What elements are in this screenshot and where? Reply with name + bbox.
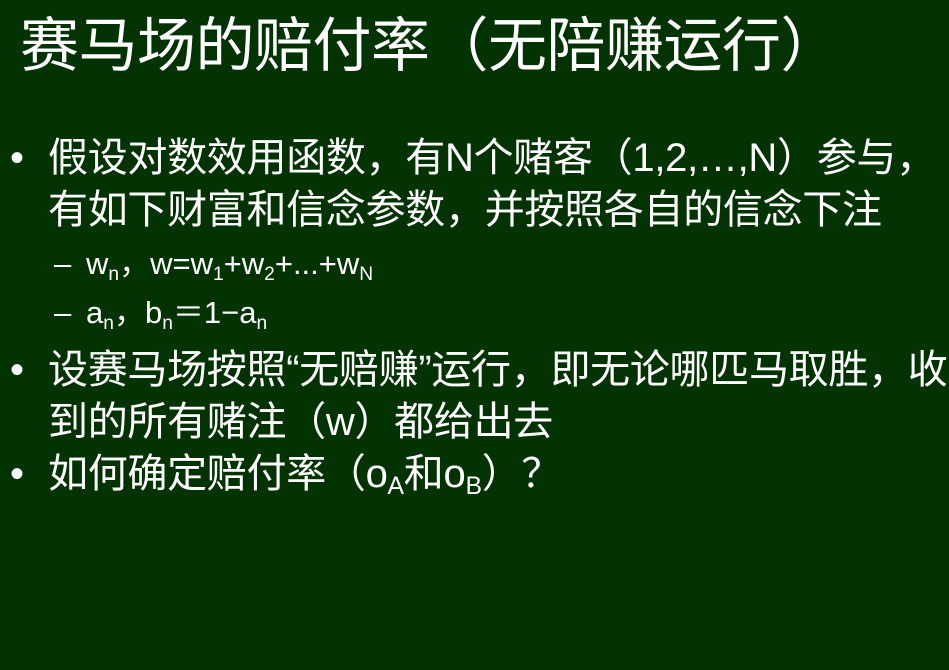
odds-a-subscript: A [388, 473, 404, 500]
comma: ， [114, 295, 145, 330]
odds-b-subscript: B [465, 473, 481, 500]
var-a-subscript: n [103, 313, 114, 334]
var-b: b [145, 295, 162, 330]
bullet-item-3: • 如何确定赔付率（oA和oB）？ [0, 448, 949, 506]
bullet-2-text: 设赛马场按照“无赔赚”运行，即无论哪匹马取胜，收到的所有赌注（w）都给出去 [48, 344, 949, 448]
comma: ， [119, 246, 150, 281]
bullet-marker-icon: • [10, 448, 40, 500]
bullet-marker-icon: • [10, 132, 40, 184]
odds-lead: 如何确定赔付率（o [48, 452, 388, 496]
dash-marker-icon: – [54, 242, 84, 286]
var-w: w [86, 246, 108, 281]
presentation-slide: 赛马场的赔付率（无陪赚运行） • 假设对数效用函数，有N个赌客（1,2,…,N）… [0, 0, 949, 670]
sub-bullet-1-text: wn，w=w1+w2+...+wN [86, 242, 949, 291]
minus-sign: − [221, 295, 239, 330]
slide-body: • 假设对数效用函数，有N个赌客（1,2,…,N）参与，有如下财富和信念参数，并… [0, 132, 949, 506]
bullet-1-text: 假设对数效用函数，有N个赌客（1,2,…,N）参与，有如下财富和信念参数，并按照… [48, 132, 949, 236]
bullet-3-text: 如何确定赔付率（oA和oB）？ [48, 448, 949, 506]
var-a-2-subscript: n [256, 313, 267, 334]
var-w1-subscript: 1 [213, 264, 224, 285]
odds-mid: 和o [404, 452, 466, 496]
ellipsis-plus-wn: +...+w [275, 246, 359, 281]
bullet-marker-icon: • [10, 344, 40, 396]
sub-bullet-item-1: – wn，w=w1+w2+...+wN [0, 242, 949, 291]
var-w-total: w=w [150, 246, 213, 281]
sub-bullet-item-2: – an，bn＝1−an [0, 291, 949, 340]
bullet-item-1: • 假设对数效用函数，有N个赌客（1,2,…,N）参与，有如下财富和信念参数，并… [0, 132, 949, 236]
var-w2-subscript: 2 [264, 264, 275, 285]
var-w-subscript: n [108, 264, 119, 285]
equals-one: ＝1 [173, 295, 221, 330]
var-a: a [86, 295, 103, 330]
var-wN-subscript: N [359, 264, 373, 285]
var-b-subscript: n [162, 313, 173, 334]
odds-tail: ）？ [482, 452, 561, 496]
slide-title: 赛马场的赔付率（无陪赚运行） [20, 9, 935, 83]
dash-marker-icon: – [54, 291, 84, 335]
var-a-2: a [239, 295, 256, 330]
sub-bullet-2-text: an，bn＝1−an [86, 291, 949, 340]
plus-w2: +w [224, 246, 265, 281]
bullet-item-2: • 设赛马场按照“无赔赚”运行，即无论哪匹马取胜，收到的所有赌注（w）都给出去 [0, 344, 949, 448]
